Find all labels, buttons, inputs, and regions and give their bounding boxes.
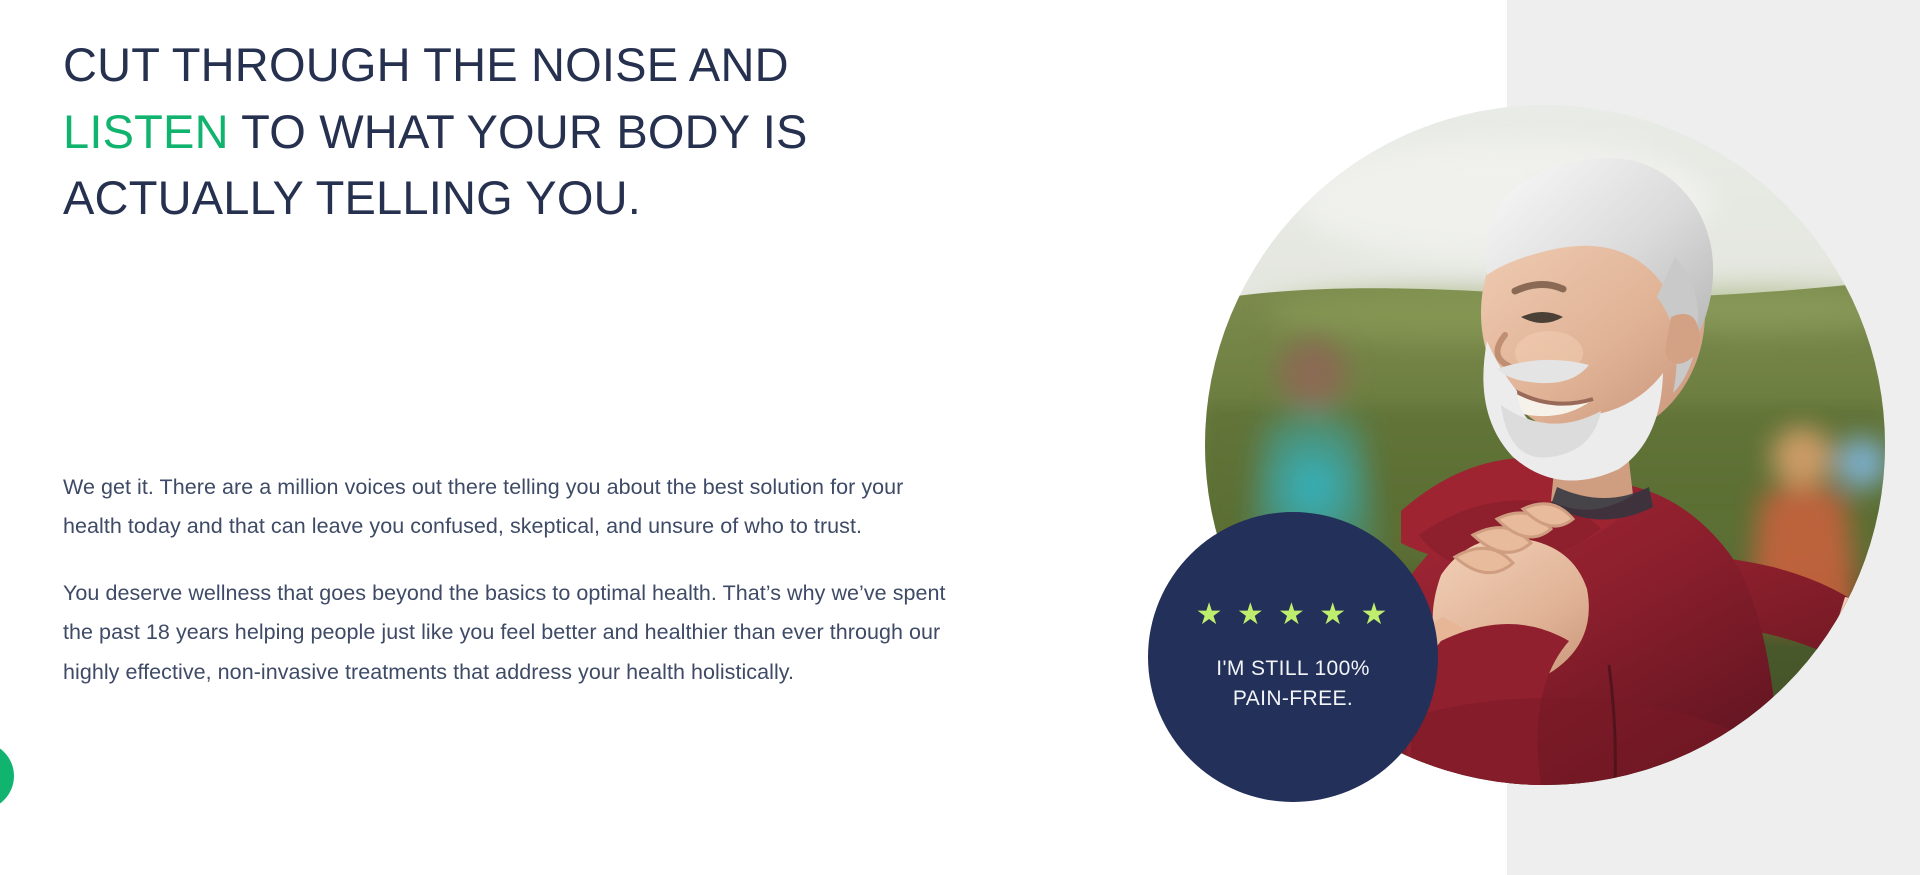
- hero-section: ★ ★ ★ ★ ★ I'M STILL 100% PAIN-FREE. CUT …: [0, 0, 1920, 875]
- hero-text-column: CUT THROUGH THE NOISE AND LISTEN TO WHAT…: [63, 0, 983, 875]
- testimonial-quote-line-1: I'M STILL 100%: [1216, 657, 1370, 680]
- testimonial-quote-line-2: PAIN-FREE.: [1233, 687, 1353, 710]
- five-star-rating-icon: ★ ★ ★ ★ ★: [1196, 600, 1391, 630]
- testimonial-quote: I'M STILL 100% PAIN-FREE.: [1182, 654, 1404, 714]
- hero-body-copy: We get it. There are a million voices ou…: [63, 468, 963, 692]
- body-paragraph-2: You deserve wellness that goes beyond th…: [63, 574, 953, 691]
- page-title: CUT THROUGH THE NOISE AND LISTEN TO WHAT…: [63, 32, 963, 232]
- testimonial-badge: ★ ★ ★ ★ ★ I'M STILL 100% PAIN-FREE.: [1148, 512, 1438, 802]
- headline-part-1: CUT THROUGH THE NOISE AND: [63, 38, 789, 91]
- headline-accent-word: LISTEN: [63, 105, 229, 158]
- green-circle-decoration: [0, 742, 14, 810]
- body-paragraph-1: We get it. There are a million voices ou…: [63, 468, 918, 546]
